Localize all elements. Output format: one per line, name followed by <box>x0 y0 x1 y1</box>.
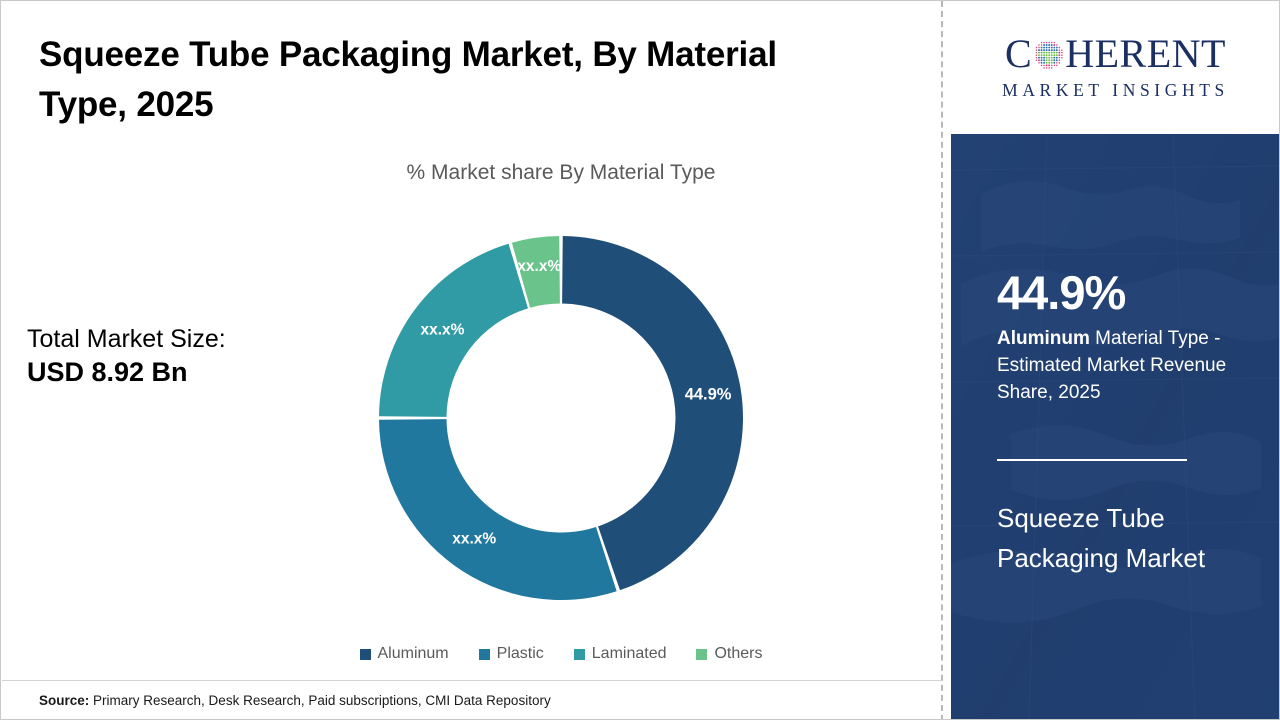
legend-label: Others <box>714 645 762 663</box>
logo-word-start: C <box>1005 34 1032 74</box>
legend-swatch-icon <box>479 649 490 660</box>
brand-logo[interactable]: C HERENT MARKET INSIGHTS <box>951 1 1280 134</box>
stat-value: 44.9% <box>997 269 1125 316</box>
stat-highlight: Aluminum <box>997 328 1090 349</box>
globe-dot-matrix-icon <box>1033 39 1064 70</box>
sidebar-divider <box>997 459 1187 461</box>
slice-label-aluminum: 44.9% <box>685 386 732 404</box>
total-market-size-value: USD 8.92 Bn <box>27 355 327 390</box>
donut-chart-svg: 44.9%xx.x%xx.x%xx.x% <box>373 230 749 606</box>
main-panel: Squeeze Tube Packaging Market, By Materi… <box>1 1 942 720</box>
footer-divider <box>2 680 941 681</box>
sidebar-market-name: Squeeze Tube Packaging Market <box>997 499 1247 578</box>
legend-item-others[interactable]: Others <box>696 645 762 663</box>
page-title: Squeeze Tube Packaging Market, By Materi… <box>39 30 869 129</box>
logo-wordmark: C HERENT <box>1005 34 1226 74</box>
logo-word-end: HERENT <box>1065 34 1226 74</box>
legend-label: Laminated <box>592 645 667 663</box>
chart-legend: AluminumPlasticLaminatedOthers <box>181 645 941 663</box>
infographic-root: Squeeze Tube Packaging Market, By Materi… <box>0 0 1280 720</box>
donut-slice-plastic[interactable] <box>379 419 617 600</box>
legend-swatch-icon <box>360 649 371 660</box>
legend-label: Aluminum <box>378 645 449 663</box>
donut-slices <box>379 236 743 600</box>
source-text: Primary Research, Desk Research, Paid su… <box>93 693 551 708</box>
legend-item-plastic[interactable]: Plastic <box>479 645 544 663</box>
total-market-size-block: Total Market Size: USD 8.92 Bn <box>27 323 327 390</box>
total-market-size-label: Total Market Size: <box>27 323 327 355</box>
legend-swatch-icon <box>696 649 707 660</box>
legend-item-laminated[interactable]: Laminated <box>574 645 667 663</box>
legend-swatch-icon <box>574 649 585 660</box>
sidebar: C HERENT MARKET INSIGHTS <box>951 1 1280 720</box>
slice-label-others: xx.x% <box>517 258 561 275</box>
source-label: Source: <box>39 693 89 708</box>
stat-description: Aluminum Material Type - Estimated Marke… <box>997 326 1259 407</box>
source-line: Source: Primary Research, Desk Research,… <box>39 693 551 708</box>
sidebar-content: 44.9% Aluminum Material Type - Estimated… <box>997 134 1259 720</box>
slice-label-plastic: xx.x% <box>452 531 496 548</box>
legend-label: Plastic <box>497 645 544 663</box>
legend-item-aluminum[interactable]: Aluminum <box>360 645 449 663</box>
chart-subtitle: % Market share By Material Type <box>181 161 941 185</box>
logo-subtitle: MARKET INSIGHTS <box>1002 80 1229 101</box>
panel-divider <box>941 1 943 720</box>
slice-label-laminated: xx.x% <box>420 321 464 338</box>
donut-chart: 44.9%xx.x%xx.x%xx.x% <box>373 230 749 606</box>
sidebar-panel: 44.9% Aluminum Material Type - Estimated… <box>951 134 1280 720</box>
